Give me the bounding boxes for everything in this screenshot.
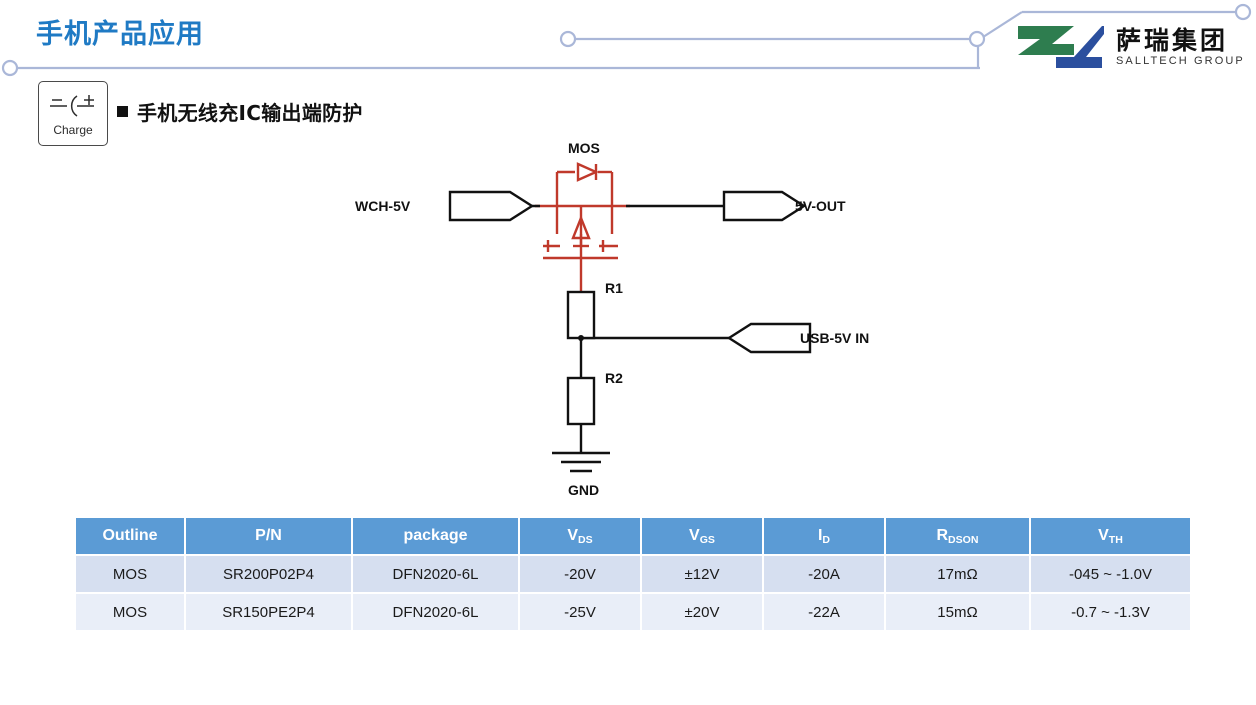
table-header-row: Outline P/N package VDS VGS ID RDSON VTH: [76, 518, 1190, 554]
schematic-label-output: 5V-OUT: [795, 198, 846, 214]
table-header-pn: P/N: [186, 518, 351, 554]
section-heading-text: 手机无线充IC输出端防护: [137, 97, 363, 126]
cell-rdson: 17mΩ: [886, 556, 1029, 592]
cell-vgs: ±12V: [642, 556, 762, 592]
circle-node-icon-left: [3, 61, 17, 75]
schematic-label-usb-in: USB-5V IN: [800, 330, 869, 346]
schematic-label-r2: R2: [605, 370, 623, 386]
company-logo: 萨瑞集团 SALLTECH GROUP: [1012, 22, 1245, 72]
cell-package: DFN2020-6L: [353, 556, 518, 592]
charge-badge-label: Charge: [53, 123, 92, 137]
wire-junction-dot: [578, 335, 584, 341]
table-header-rdson: RDSON: [886, 518, 1029, 554]
cell-id: -20A: [764, 556, 884, 592]
schematic-svg: [330, 130, 930, 505]
table-header-id: ID: [764, 518, 884, 554]
table-row: MOS SR200P02P4 DFN2020-6L -20V ±12V -20A…: [76, 556, 1190, 592]
circle-node-icon-junction: [970, 32, 984, 46]
salltech-logo-mark: [1012, 22, 1108, 72]
cell-rdson: 15mΩ: [886, 594, 1029, 630]
table-row: MOS SR150PE2P4 DFN2020-6L -25V ±20V -22A…: [76, 594, 1190, 630]
schematic-label-gnd: GND: [568, 482, 599, 498]
table-header-outline: Outline: [76, 518, 184, 554]
port-flag-output: [724, 192, 804, 220]
circuit-schematic: MOS WCH-5V 5V-OUT USB-5V IN R1 R2 GND: [330, 130, 930, 505]
cell-vth: -045 ~ -1.0V: [1031, 556, 1190, 592]
resistor-r1: [568, 292, 594, 338]
circle-node-icon-right: [1236, 5, 1250, 19]
table-header-vgs: VGS: [642, 518, 762, 554]
port-flag-usb-in: [729, 324, 810, 352]
cell-vgs: ±20V: [642, 594, 762, 630]
cell-pn: SR200P02P4: [186, 556, 351, 592]
schematic-label-input: WCH-5V: [355, 198, 410, 214]
resistor-r2: [568, 378, 594, 424]
cell-pn: SR150PE2P4: [186, 594, 351, 630]
logo-name-en: SALLTECH GROUP: [1116, 56, 1245, 67]
cell-vds: -25V: [520, 594, 640, 630]
logo-blue-bar: [1056, 57, 1102, 68]
schematic-label-mos: MOS: [568, 140, 600, 156]
filled-square-bullet-icon: [117, 106, 128, 117]
cell-package: DFN2020-6L: [353, 594, 518, 630]
page-title: 手机产品应用: [36, 12, 204, 51]
circle-node-icon-mid: [561, 32, 575, 46]
body-diode-triangle: [578, 164, 596, 180]
cell-id: -22A: [764, 594, 884, 630]
table-header-package: package: [353, 518, 518, 554]
cell-vds: -20V: [520, 556, 640, 592]
mosfet-net-wires: [535, 164, 630, 292]
cell-outline: MOS: [76, 594, 184, 630]
table-header-vth: VTH: [1031, 518, 1190, 554]
battery-charge-icon: [46, 91, 100, 121]
table-header-vds: VDS: [520, 518, 640, 554]
schematic-label-r1: R1: [605, 280, 623, 296]
section-heading: 手机无线充IC输出端防护: [117, 97, 363, 126]
cell-vth: -0.7 ~ -1.3V: [1031, 594, 1190, 630]
charge-badge: Charge: [38, 81, 108, 146]
logo-name-cn: 萨瑞集团: [1116, 28, 1245, 53]
logo-green-shape: [1018, 26, 1074, 55]
spec-table: Outline P/N package VDS VGS ID RDSON VTH…: [74, 516, 1192, 632]
port-flag-input: [450, 192, 532, 220]
cell-outline: MOS: [76, 556, 184, 592]
